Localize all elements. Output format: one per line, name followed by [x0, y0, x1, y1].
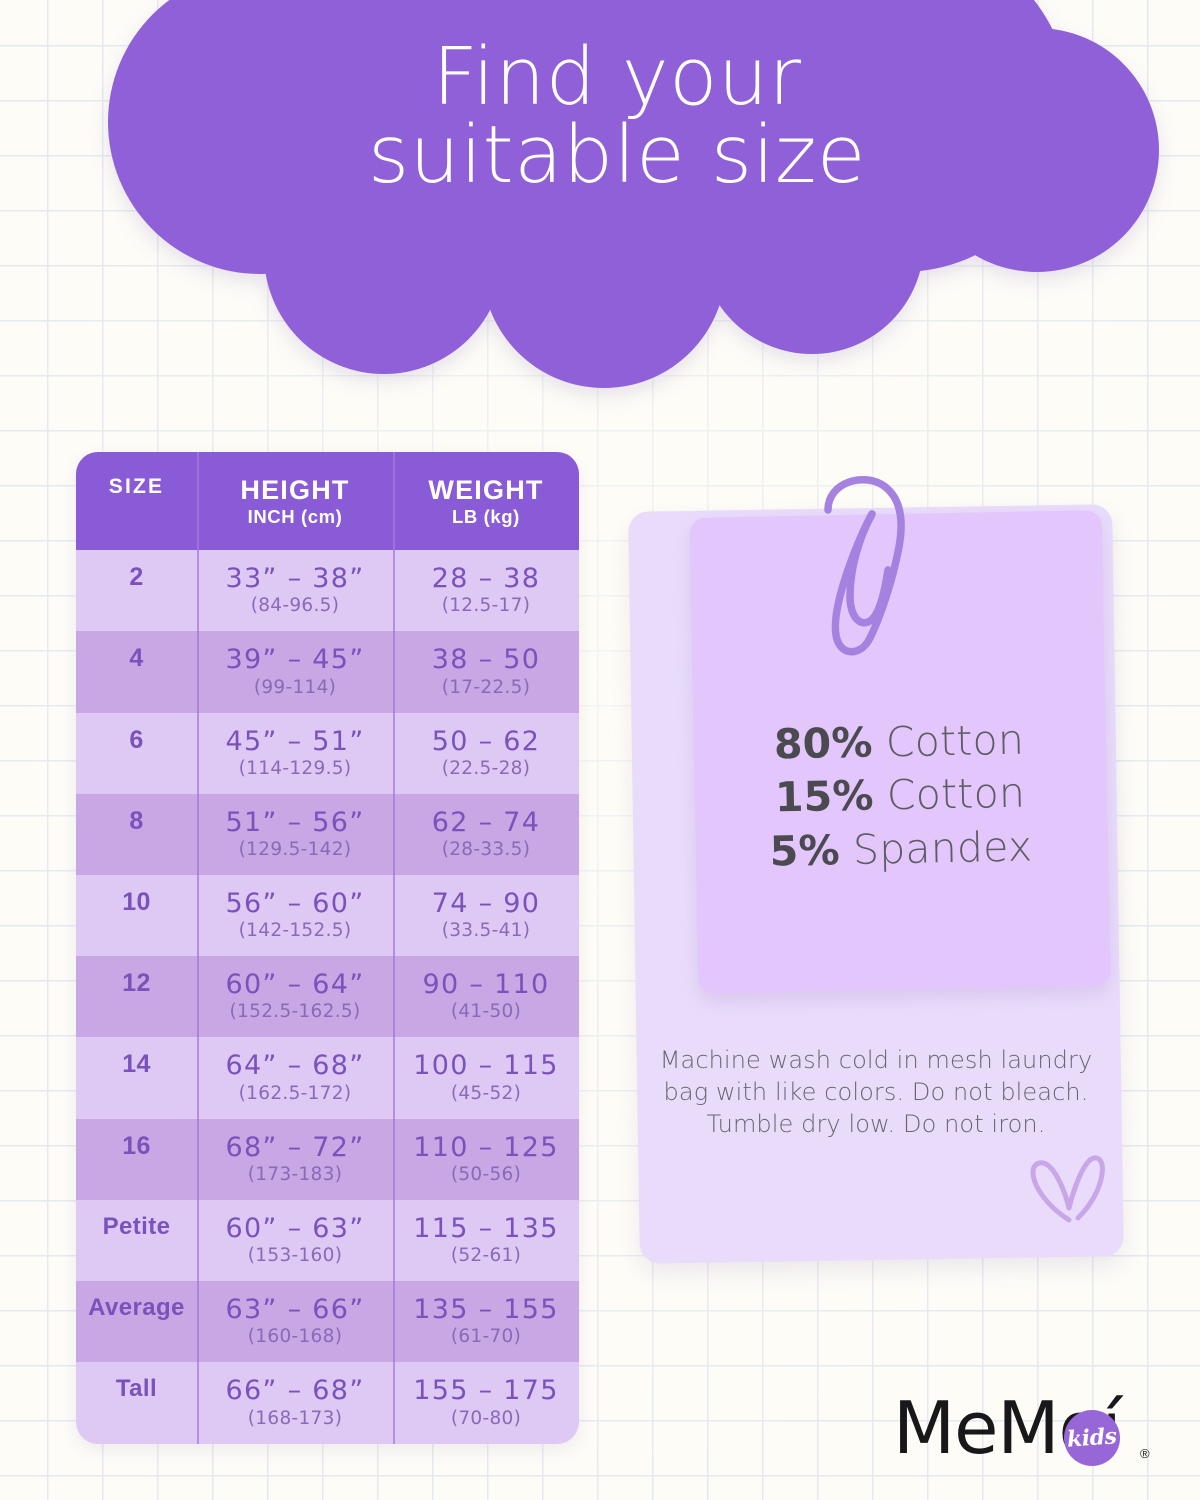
- cell-height: 63” – 66”(160-168): [197, 1281, 393, 1362]
- weight-kg: (12.5-17): [397, 595, 575, 616]
- weight-kg: (33.5-41): [397, 920, 575, 941]
- table-row: Average63” – 66”(160-168)135 – 155(61-70…: [76, 1281, 579, 1362]
- weight-kg: (52-61): [397, 1245, 575, 1266]
- size-value: 2: [80, 564, 193, 592]
- height-cm: (99-114): [201, 677, 389, 698]
- cell-size: 10: [76, 875, 197, 956]
- height-inches: 33” – 38”: [201, 564, 389, 594]
- fabric-composition: 80% Cotton 15% Cotton 5% Spandex: [693, 712, 1108, 880]
- weight-lb: 90 – 110: [397, 970, 575, 1000]
- table-body: 233” – 38”(84-96.5)28 – 38(12.5-17)439” …: [76, 550, 579, 1444]
- weight-kg: (50-56): [397, 1164, 575, 1185]
- height-inches: 66” – 68”: [201, 1376, 389, 1406]
- cell-height: 60” – 64”(152.5-162.5): [197, 956, 393, 1037]
- size-value: Petite: [80, 1214, 193, 1240]
- size-value: 10: [80, 889, 193, 917]
- kids-badge: kids: [1064, 1410, 1120, 1466]
- weight-lb: 155 – 175: [397, 1376, 575, 1406]
- cell-weight: 115 – 135(52-61): [393, 1200, 579, 1281]
- weight-lb: 50 – 62: [397, 727, 575, 757]
- cell-weight: 110 – 125(50-56): [393, 1119, 579, 1200]
- height-inches: 51” – 56”: [201, 808, 389, 838]
- cell-height: 64” – 68”(162.5-172): [197, 1037, 393, 1118]
- table-row: 1668” – 72”(173-183)110 – 125(50-56): [76, 1119, 579, 1200]
- table-row: Tall66” – 68”(168-173)155 – 175(70-80): [76, 1362, 579, 1443]
- height-inches: 63” – 66”: [201, 1295, 389, 1325]
- composition-line: 15% Cotton: [694, 765, 1107, 826]
- column-header-height: HEIGHT INCH (cm): [197, 452, 393, 550]
- table-header-row: SIZE HEIGHT INCH (cm) WEIGHT LB (kg): [76, 452, 579, 550]
- weight-lb: 62 – 74: [397, 808, 575, 838]
- height-cm: (153-160): [201, 1245, 389, 1266]
- cell-weight: 155 – 175(70-80): [393, 1362, 579, 1443]
- weight-kg: (61-70): [397, 1326, 575, 1347]
- cell-height: 33” – 38”(84-96.5): [197, 550, 393, 631]
- height-cm: (129.5-142): [201, 839, 389, 860]
- cell-height: 60” – 63”(153-160): [197, 1200, 393, 1281]
- height-cm: (162.5-172): [201, 1083, 389, 1104]
- height-cm: (152.5-162.5): [201, 1001, 389, 1022]
- table-row: 1464” – 68”(162.5-172)100 – 115(45-52): [76, 1037, 579, 1118]
- height-inches: 60” – 64”: [201, 970, 389, 1000]
- page-title: Find your suitable size: [112, 38, 1122, 194]
- height-cm: (84-96.5): [201, 595, 389, 616]
- title-line-2: suitable size: [112, 116, 1122, 194]
- composition-line: 80% Cotton: [693, 712, 1106, 773]
- weight-kg: (17-22.5): [397, 677, 575, 698]
- cell-height: 45” – 51”(114-129.5): [197, 713, 393, 794]
- table-row: 1056” – 60”(142-152.5)74 – 90(33.5-41): [76, 875, 579, 956]
- cell-weight: 28 – 38(12.5-17): [393, 550, 579, 631]
- cell-size: Tall: [76, 1362, 197, 1443]
- weight-kg: (28-33.5): [397, 839, 575, 860]
- height-inches: 68” – 72”: [201, 1133, 389, 1163]
- cell-size: Average: [76, 1281, 197, 1362]
- column-header-size: SIZE: [76, 452, 197, 550]
- size-chart-table: SIZE HEIGHT INCH (cm) WEIGHT LB (kg) 233…: [76, 452, 579, 1444]
- weight-lb: 74 – 90: [397, 889, 575, 919]
- size-value: 14: [80, 1051, 193, 1079]
- sticky-note-group: 80% Cotton 15% Cotton 5% Spandex Machine…: [620, 498, 1120, 1278]
- cell-size: 16: [76, 1119, 197, 1200]
- height-cm: (173-183): [201, 1164, 389, 1185]
- cell-height: 68” – 72”(173-183): [197, 1119, 393, 1200]
- weight-lb: 100 – 115: [397, 1051, 575, 1081]
- weight-lb: 110 – 125: [397, 1133, 575, 1163]
- weight-lb: 28 – 38: [397, 564, 575, 594]
- weight-lb: 38 – 50: [397, 645, 575, 675]
- height-cm: (142-152.5): [201, 920, 389, 941]
- weight-lb: 135 – 155: [397, 1295, 575, 1325]
- cell-height: 56” – 60”(142-152.5): [197, 875, 393, 956]
- cell-height: 39” – 45”(99-114): [197, 631, 393, 712]
- height-cm: (168-173): [201, 1408, 389, 1429]
- cell-size: 6: [76, 713, 197, 794]
- size-value: Average: [80, 1295, 193, 1321]
- cell-size: 14: [76, 1037, 197, 1118]
- size-value: 4: [80, 645, 193, 673]
- composition-line: 5% Spandex: [695, 819, 1108, 880]
- care-instructions: Machine wash cold in mesh laundry bag wi…: [648, 1044, 1104, 1140]
- heart-icon: [1024, 1146, 1110, 1232]
- height-inches: 56” – 60”: [201, 889, 389, 919]
- table-row: 439” – 45”(99-114)38 – 50(17-22.5): [76, 631, 579, 712]
- cell-size: 12: [76, 956, 197, 1037]
- registered-trademark-icon: ®: [1140, 1446, 1150, 1461]
- cell-size: 4: [76, 631, 197, 712]
- size-value: Tall: [80, 1376, 193, 1402]
- cell-weight: 38 – 50(17-22.5): [393, 631, 579, 712]
- cell-weight: 62 – 74(28-33.5): [393, 794, 579, 875]
- table-row: 645” – 51”(114-129.5)50 – 62(22.5-28): [76, 713, 579, 794]
- weight-kg: (41-50): [397, 1001, 575, 1022]
- weight-kg: (70-80): [397, 1408, 575, 1429]
- size-value: 6: [80, 727, 193, 755]
- cell-weight: 100 – 115(45-52): [393, 1037, 579, 1118]
- height-inches: 45” – 51”: [201, 727, 389, 757]
- weight-kg: (22.5-28): [397, 758, 575, 779]
- size-value: 12: [80, 970, 193, 998]
- table-row: 851” – 56”(129.5-142)62 – 74(28-33.5): [76, 794, 579, 875]
- height-inches: 64” – 68”: [201, 1051, 389, 1081]
- table-row: Petite60” – 63”(153-160)115 – 135(52-61): [76, 1200, 579, 1281]
- height-cm: (160-168): [201, 1326, 389, 1347]
- cell-size: 2: [76, 550, 197, 631]
- cell-weight: 74 – 90(33.5-41): [393, 875, 579, 956]
- weight-lb: 115 – 135: [397, 1214, 575, 1244]
- cell-weight: 50 – 62(22.5-28): [393, 713, 579, 794]
- height-cm: (114-129.5): [201, 758, 389, 779]
- table-row: 1260” – 64”(152.5-162.5)90 – 110(41-50): [76, 956, 579, 1037]
- weight-kg: (45-52): [397, 1083, 575, 1104]
- cell-size: 8: [76, 794, 197, 875]
- size-value: 8: [80, 808, 193, 836]
- kids-badge-label: kids: [1066, 1423, 1117, 1452]
- size-value: 16: [80, 1133, 193, 1161]
- paperclip-icon: [806, 466, 926, 676]
- brand-logo: MeMoí kids ®: [893, 1392, 1153, 1478]
- table-row: 233” – 38”(84-96.5)28 – 38(12.5-17): [76, 550, 579, 631]
- column-header-weight: WEIGHT LB (kg): [393, 452, 579, 550]
- cell-weight: 90 – 110(41-50): [393, 956, 579, 1037]
- height-inches: 60” – 63”: [201, 1214, 389, 1244]
- cell-weight: 135 – 155(61-70): [393, 1281, 579, 1362]
- height-inches: 39” – 45”: [201, 645, 389, 675]
- cell-height: 51” – 56”(129.5-142): [197, 794, 393, 875]
- cell-height: 66” – 68”(168-173): [197, 1362, 393, 1443]
- cell-size: Petite: [76, 1200, 197, 1281]
